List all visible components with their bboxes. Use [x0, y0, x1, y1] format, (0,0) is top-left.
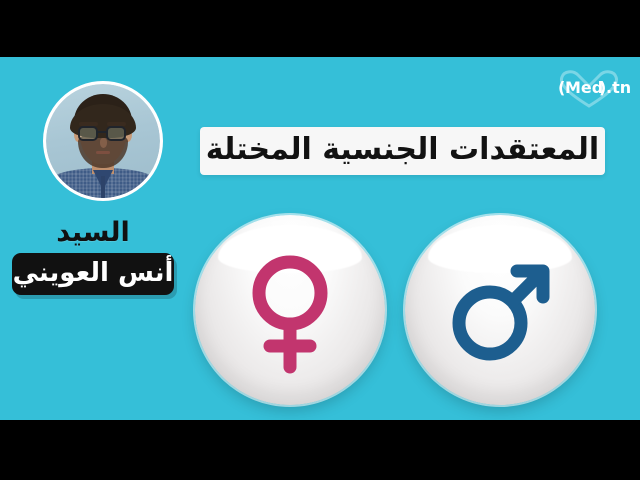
photo-glasses-right-lens: [106, 126, 126, 141]
photo-eyebrow-right: [107, 122, 126, 126]
mars-icon: [405, 215, 595, 405]
med-tn-logo[interactable]: ( Med ) .tn: [546, 65, 632, 111]
photo-glasses-bridge: [98, 131, 106, 133]
photo-eyebrow-left: [79, 122, 98, 126]
logo-text-suffix: .tn: [606, 78, 631, 97]
photo-nose: [100, 138, 107, 148]
female-symbol-circle: [195, 215, 385, 405]
speaker-honorific: السيد: [0, 217, 186, 248]
letterbox-top: [0, 0, 640, 57]
male-symbol-circle: [405, 215, 595, 405]
speaker-name-badge: أنس العويني: [12, 253, 174, 295]
photo-glasses-left-lens: [78, 126, 98, 141]
speaker-name-text: أنس العويني: [13, 260, 174, 288]
speaker-photo: [46, 84, 160, 198]
video-content-stage: السيد أنس العويني المعتقدات الجنسية المخ…: [0, 57, 640, 420]
photo-mouth: [96, 151, 110, 154]
logo-text-primary: Med: [565, 78, 603, 97]
letterbox-bottom: [0, 420, 640, 480]
photo-placket: [101, 176, 105, 198]
video-frame: السيد أنس العويني المعتقدات الجنسية المخ…: [0, 0, 640, 480]
video-title-text: المعتقدات الجنسية المختلة: [206, 135, 599, 168]
venus-icon: [195, 215, 385, 405]
speaker-avatar: [43, 81, 163, 201]
video-title-box: المعتقدات الجنسية المختلة: [200, 127, 605, 175]
